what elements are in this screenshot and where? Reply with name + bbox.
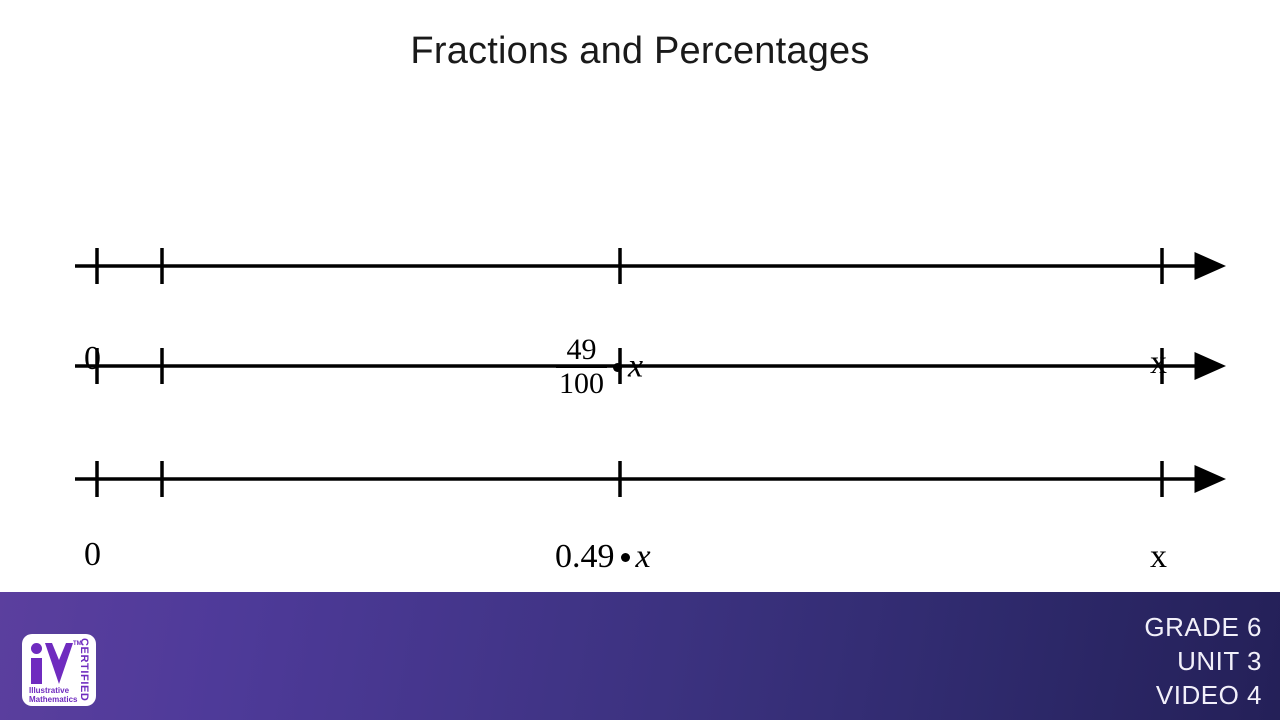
label-x-fraction-line: x [1150, 346, 1167, 380]
number-line-diagram: 0 49 100 x x 0 0.49x x 0% 6% 49% 100% [0, 150, 1280, 570]
logo-wordmark-line2: Mathematics [29, 695, 77, 704]
multiplication-dot-icon [613, 363, 622, 372]
bottom-banner: TM Illustrative Mathematics CERTIFIED GR… [0, 592, 1280, 720]
logo-artwork: TM Illustrative Mathematics CERTIFIED [22, 634, 96, 706]
metadata-unit: UNIT 3 [1144, 644, 1262, 678]
page-title: Fractions and Percentages [0, 30, 1280, 73]
logo-certified-band: CERTIFIED [78, 638, 92, 702]
variable-x: x [636, 538, 651, 575]
label-zero-fraction-line: 0 [84, 342, 101, 376]
logo-letter-m-notch [52, 643, 66, 660]
label-fraction-expression: 49 100 x [556, 336, 643, 401]
logo-wordmark: Illustrative Mathematics [29, 686, 77, 704]
logo-wordmark-line1: Illustrative [29, 686, 77, 695]
fraction-49-over-100: 49 100 [556, 334, 607, 399]
fraction-numerator: 49 [556, 334, 607, 366]
metadata-video: VIDEO 4 [1144, 678, 1262, 712]
slide-canvas: Fractions and Percentages [0, 0, 1280, 592]
lesson-metadata: GRADE 6 UNIT 3 VIDEO 4 [1144, 610, 1262, 712]
logo-letter-i-stem [31, 658, 42, 684]
multiplication-dot-icon [621, 553, 630, 562]
metadata-grade: GRADE 6 [1144, 610, 1262, 644]
logo-letter-i-dot [31, 643, 42, 654]
number-line-percent [75, 461, 1198, 497]
label-zero-decimal-line: 0 [84, 538, 101, 572]
illustrative-mathematics-certified-logo: TM Illustrative Mathematics CERTIFIED [22, 634, 96, 706]
number-line-fraction [75, 248, 1198, 284]
label-decimal-expression: 0.49x [555, 540, 651, 574]
label-x-decimal-line: x [1150, 540, 1167, 574]
variable-x: x [628, 347, 643, 384]
fraction-denominator: 100 [556, 366, 607, 400]
decimal-value: 0.49 [555, 538, 615, 575]
